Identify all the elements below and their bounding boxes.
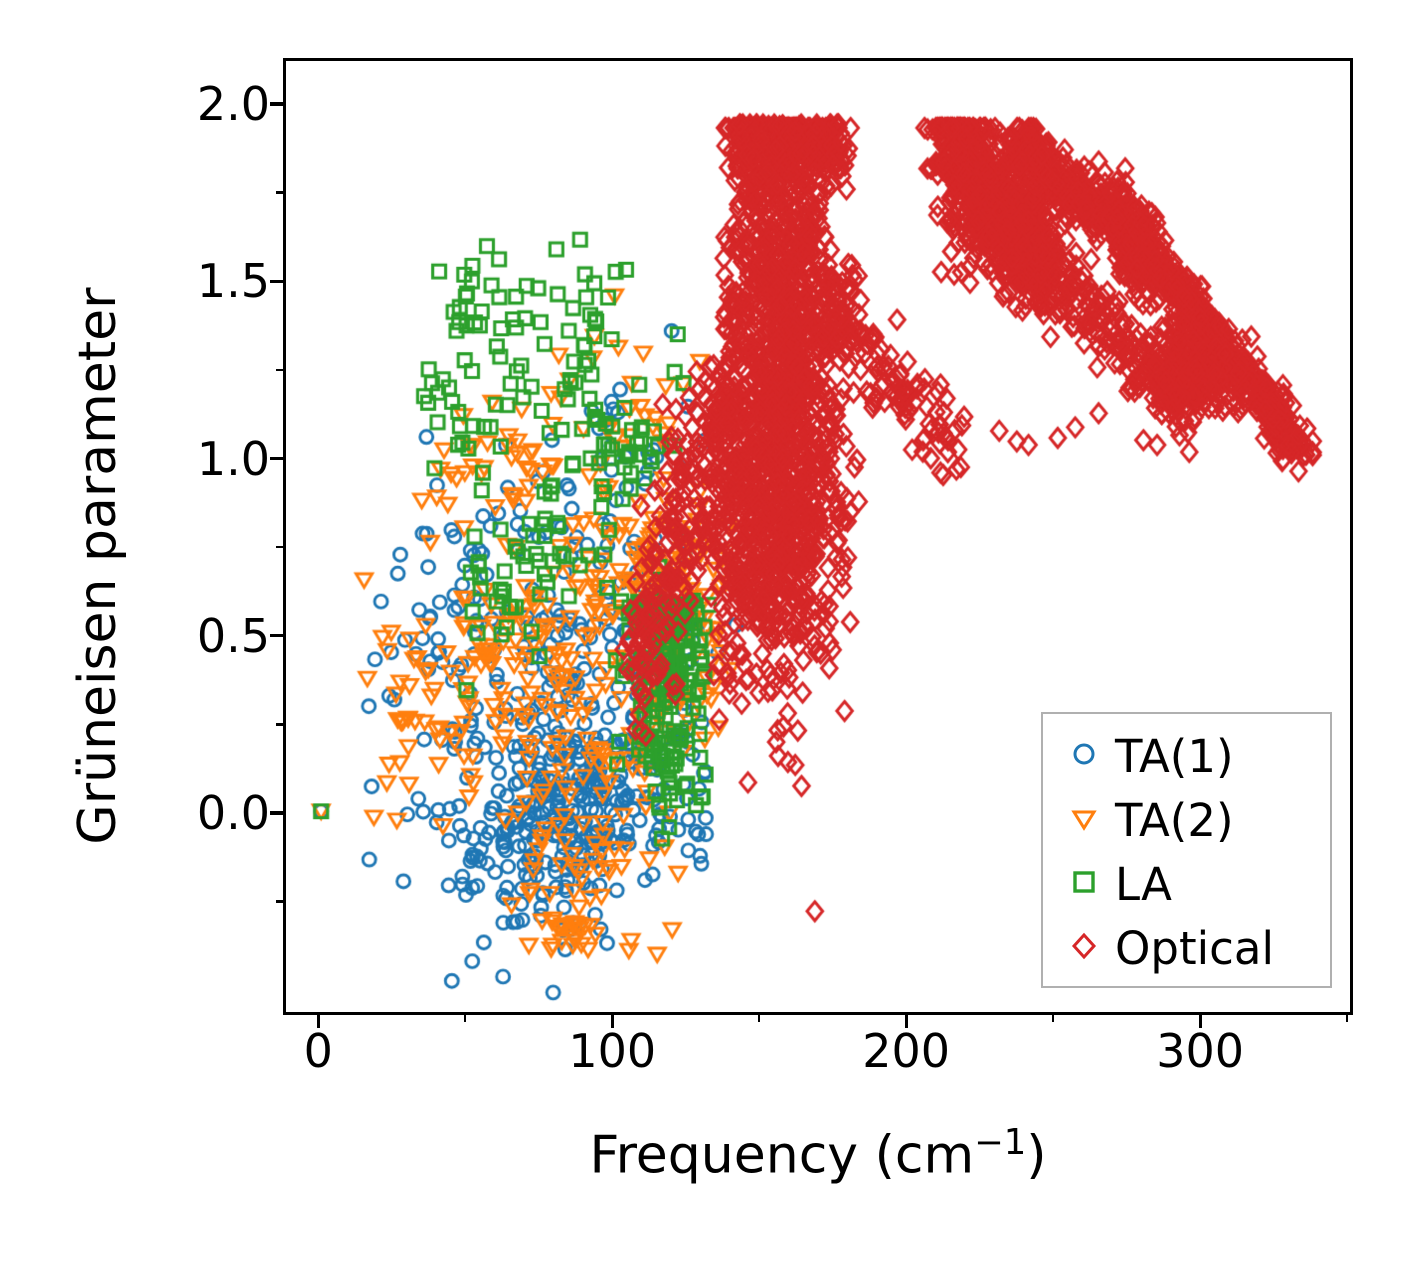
legend-entry-la[interactable]: LA [1043, 852, 1330, 916]
y-tick-minor [276, 723, 283, 725]
x-axis-label-exponent: −1 [974, 1122, 1026, 1163]
square-open-icon [1061, 867, 1107, 901]
figure: 01002003000.00.51.01.52.0 Frequency (cm−… [0, 0, 1413, 1264]
y-tick-minor [276, 900, 283, 902]
legend-label-la: LA [1107, 858, 1172, 911]
y-tick-major [270, 280, 283, 283]
x-tick-label: 0 [304, 1028, 333, 1074]
y-tick-label: 0.0 [197, 790, 270, 836]
legend-label-ta2: TA(2) [1107, 794, 1234, 847]
x-axis-label-tail: ) [1026, 1125, 1046, 1185]
y-tick-label: 1.0 [197, 436, 270, 482]
y-tick-major [270, 811, 283, 814]
x-tick-minor [1346, 1015, 1348, 1022]
legend-label-optical: Optical [1107, 922, 1274, 975]
x-axis-label: Frequency (cm−1) [589, 1122, 1046, 1185]
y-tick-label: 2.0 [197, 81, 270, 127]
y-tick-minor [276, 546, 283, 548]
x-tick-minor [464, 1015, 466, 1022]
triangle-down-open-icon [1061, 803, 1107, 837]
x-tick-label: 300 [1156, 1028, 1244, 1074]
y-tick-label: 0.5 [197, 613, 270, 659]
legend-label-ta1: TA(1) [1107, 730, 1234, 783]
y-tick-label: 1.5 [197, 258, 270, 304]
circle-open-icon [1061, 739, 1107, 773]
diamond-open-icon [1061, 931, 1107, 965]
x-tick-minor [758, 1015, 760, 1022]
legend-entry-ta2[interactable]: TA(2) [1043, 788, 1330, 852]
y-tick-minor [276, 191, 283, 193]
x-tick-label: 100 [568, 1028, 656, 1074]
legend-entry-ta1[interactable]: TA(1) [1043, 724, 1330, 788]
y-tick-major [270, 102, 283, 105]
x-axis-label-text: Frequency (cm [589, 1125, 974, 1185]
legend-entry-optical[interactable]: Optical [1043, 916, 1330, 980]
y-tick-minor [276, 369, 283, 371]
x-tick-label: 200 [862, 1028, 950, 1074]
y-tick-major [270, 634, 283, 637]
x-tick-minor [1052, 1015, 1054, 1022]
y-axis-label: Grüneisen parameter [68, 246, 128, 886]
y-tick-major [270, 457, 283, 460]
legend: TA(1) TA(2) LA Optical [1041, 712, 1332, 988]
